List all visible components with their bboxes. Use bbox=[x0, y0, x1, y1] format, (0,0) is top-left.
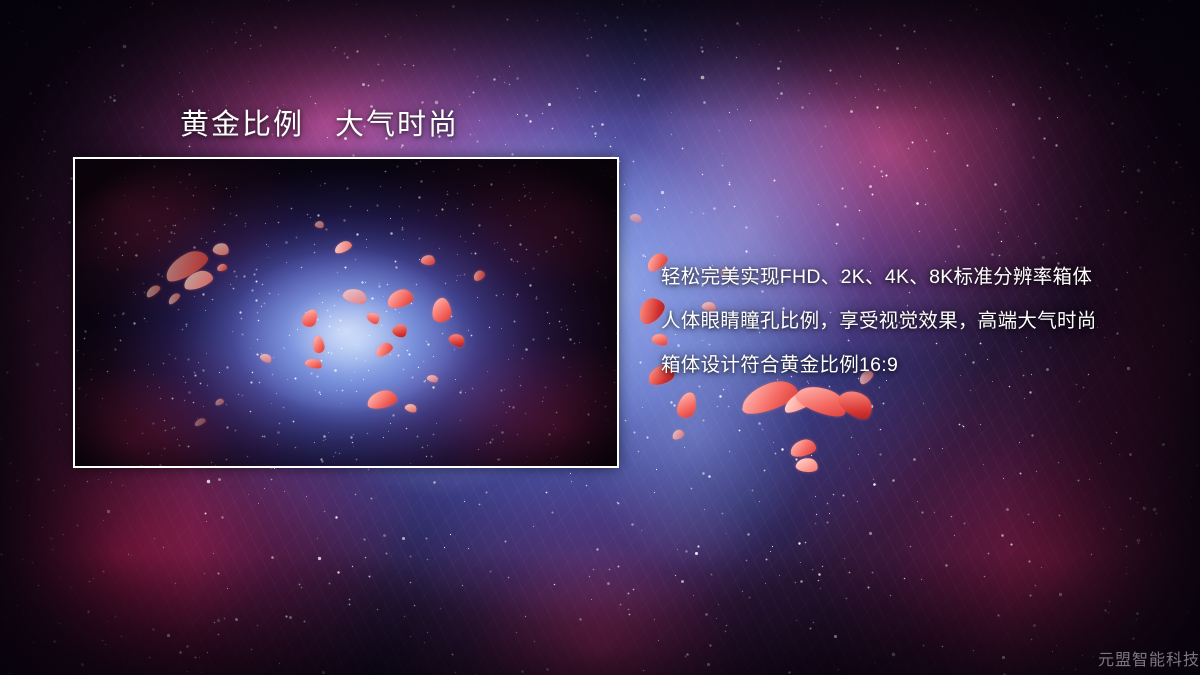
petal bbox=[675, 390, 698, 419]
galaxy-petals-photo-frame bbox=[73, 157, 619, 468]
body-text-block: 轻松完美实现FHD、2K、4K、8K标准分辨率箱体 人体眼睛瞳孔比例，享受视觉效… bbox=[661, 255, 1161, 387]
page-title: 黄金比例 大气时尚 bbox=[180, 101, 459, 143]
petal bbox=[795, 457, 819, 474]
photo-content bbox=[75, 159, 617, 466]
body-line-1: 轻松完美实现FHD、2K、4K、8K标准分辨率箱体 bbox=[661, 255, 1161, 299]
photo-vignette bbox=[75, 159, 617, 466]
slide-canvas: 黄金比例 大气时尚 轻松完美实现FHD、2K、4K、8K标准分辨率箱体 人体眼睛… bbox=[0, 0, 1200, 675]
petal bbox=[629, 212, 643, 224]
petal bbox=[834, 384, 877, 424]
petal bbox=[789, 437, 818, 458]
petal bbox=[671, 428, 685, 441]
body-line-3: 箱体设计符合黄金比例16:9 bbox=[661, 343, 1161, 387]
watermark: 元盟智能科技 bbox=[1098, 646, 1200, 670]
body-line-2: 人体眼睛瞳孔比例，享受视觉效果，高端大气时尚 bbox=[661, 299, 1161, 343]
